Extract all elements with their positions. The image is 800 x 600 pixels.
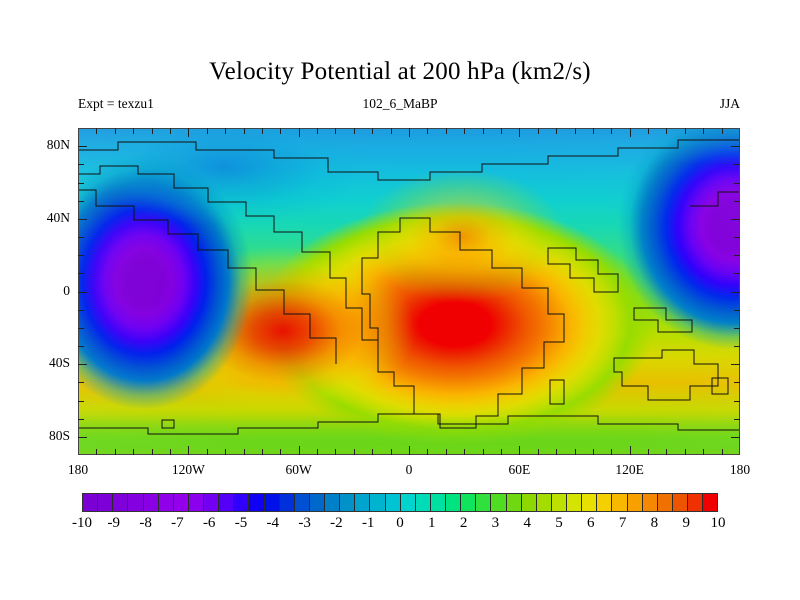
y-tick <box>731 146 740 147</box>
x-tick <box>354 128 355 134</box>
colorbar-cell <box>83 494 98 511</box>
y-tick <box>78 364 87 365</box>
x-tick <box>685 449 686 455</box>
x-tick <box>280 128 281 134</box>
x-tick <box>170 128 171 134</box>
colorbar-cell <box>431 494 446 511</box>
x-tick <box>354 449 355 455</box>
y-tick <box>78 346 84 347</box>
colorbar-cell <box>567 494 582 511</box>
x-tick <box>372 449 373 455</box>
x-tick <box>335 128 336 134</box>
colorbar-cell <box>552 494 567 511</box>
colorbar-cell <box>355 494 370 511</box>
x-tick <box>133 449 134 455</box>
y-tick <box>731 292 740 293</box>
colorbar-cell <box>340 494 355 511</box>
x-tick <box>611 449 612 455</box>
y-tick <box>731 364 740 365</box>
x-tick <box>593 449 594 455</box>
x-tick <box>427 128 428 134</box>
colorbar-cell <box>280 494 295 511</box>
x-tick <box>115 128 116 134</box>
x-axis-label: 0 <box>374 462 444 478</box>
y-tick <box>78 310 84 311</box>
x-tick <box>96 128 97 134</box>
x-tick <box>722 128 723 134</box>
x-tick <box>630 128 631 137</box>
x-axis-label: 180 <box>43 462 113 478</box>
x-tick <box>188 128 189 137</box>
x-tick <box>556 128 557 134</box>
x-tick <box>244 128 245 134</box>
figure-canvas: Velocity Potential at 200 hPa (km2/s) Ex… <box>0 0 800 600</box>
y-tick <box>734 382 740 383</box>
x-tick <box>409 128 410 137</box>
x-tick <box>170 449 171 455</box>
x-tick <box>317 128 318 134</box>
x-axis-label: 60E <box>484 462 554 478</box>
colorbar-cell <box>476 494 491 511</box>
x-tick <box>391 449 392 455</box>
x-tick <box>207 128 208 134</box>
y-axis-label: 40S <box>18 355 70 371</box>
y-tick <box>78 328 84 329</box>
x-tick <box>593 128 594 134</box>
y-tick <box>734 183 740 184</box>
x-tick <box>225 128 226 134</box>
y-tick <box>78 437 87 438</box>
x-tick <box>666 449 667 455</box>
colorbar-cell <box>688 494 703 511</box>
colorbar-cell <box>461 494 476 511</box>
chart-title: Velocity Potential at 200 hPa (km2/s) <box>0 58 800 86</box>
x-tick <box>188 446 189 455</box>
y-tick <box>734 201 740 202</box>
y-tick <box>78 273 84 274</box>
x-axis-label: 180 <box>705 462 775 478</box>
x-tick <box>483 449 484 455</box>
colorbar-cell <box>416 494 431 511</box>
x-tick <box>280 449 281 455</box>
y-tick <box>734 273 740 274</box>
y-tick <box>734 310 740 311</box>
colorbar-tick-label: 10 <box>698 515 738 532</box>
colorbar-cell <box>310 494 325 511</box>
y-tick <box>78 237 84 238</box>
x-tick <box>427 449 428 455</box>
colorbar <box>82 493 718 512</box>
x-tick <box>483 128 484 134</box>
colorbar-cell <box>159 494 174 511</box>
season-label: JJA <box>0 96 740 112</box>
x-tick <box>501 449 502 455</box>
x-tick <box>556 449 557 455</box>
y-tick <box>78 382 84 383</box>
colorbar-cell <box>219 494 234 511</box>
colorbar-cell <box>658 494 673 511</box>
x-tick <box>575 128 576 134</box>
colorbar-cell <box>189 494 204 511</box>
colorbar-cell <box>249 494 264 511</box>
colorbar-cell <box>386 494 401 511</box>
y-tick <box>734 401 740 402</box>
y-tick <box>734 237 740 238</box>
x-tick <box>464 449 465 455</box>
y-tick <box>734 328 740 329</box>
y-tick <box>734 164 740 165</box>
x-tick <box>207 449 208 455</box>
x-tick <box>703 449 704 455</box>
colorbar-cell <box>174 494 189 511</box>
colorbar-cell <box>370 494 385 511</box>
y-axis-label: 40N <box>18 210 70 226</box>
x-tick <box>299 446 300 455</box>
colorbar-cell <box>612 494 627 511</box>
colorbar-cell <box>628 494 643 511</box>
colorbar-cell <box>643 494 658 511</box>
colorbar-cell <box>673 494 688 511</box>
x-tick <box>648 128 649 134</box>
x-tick <box>335 449 336 455</box>
x-tick <box>464 128 465 134</box>
x-tick <box>133 128 134 134</box>
y-tick <box>78 292 87 293</box>
x-tick <box>152 128 153 134</box>
x-tick <box>409 446 410 455</box>
y-tick <box>78 164 84 165</box>
y-axis-label: 80S <box>18 428 70 444</box>
x-tick <box>262 128 263 134</box>
colorbar-cell <box>295 494 310 511</box>
x-tick <box>685 128 686 134</box>
x-tick <box>666 128 667 134</box>
x-tick <box>446 449 447 455</box>
x-tick <box>96 449 97 455</box>
x-tick <box>262 449 263 455</box>
x-tick <box>372 128 373 134</box>
colorbar-cell <box>113 494 128 511</box>
x-tick <box>501 128 502 134</box>
colorbar-cell <box>507 494 522 511</box>
x-tick <box>538 449 539 455</box>
y-axis-label: 0 <box>18 283 70 299</box>
x-tick <box>317 449 318 455</box>
x-tick <box>519 128 520 137</box>
y-tick <box>734 346 740 347</box>
y-axis-label: 80N <box>18 137 70 153</box>
y-tick <box>78 255 84 256</box>
colorbar-cell <box>446 494 461 511</box>
y-tick <box>78 146 87 147</box>
x-tick <box>152 449 153 455</box>
x-tick <box>611 128 612 134</box>
colorbar-cell <box>204 494 219 511</box>
x-tick <box>630 446 631 455</box>
colorbar-cell <box>128 494 143 511</box>
y-tick <box>78 183 84 184</box>
x-axis-label: 60W <box>264 462 334 478</box>
colorbar-cell <box>401 494 416 511</box>
x-tick <box>722 449 723 455</box>
x-axis-label: 120E <box>595 462 665 478</box>
colorbar-cell <box>597 494 612 511</box>
x-tick <box>446 128 447 134</box>
y-tick <box>78 401 84 402</box>
x-tick <box>648 449 649 455</box>
colorbar-labels: -10-9-8-7-6-5-4-3-2-1012345678910 <box>82 515 718 537</box>
x-tick <box>575 449 576 455</box>
colorbar-cell <box>537 494 552 511</box>
y-tick <box>78 419 84 420</box>
x-tick <box>299 128 300 137</box>
colorbar-cell <box>522 494 537 511</box>
y-tick <box>78 201 84 202</box>
x-tick <box>115 449 116 455</box>
colorbar-cell <box>98 494 113 511</box>
y-tick <box>734 255 740 256</box>
x-tick <box>538 128 539 134</box>
x-tick <box>244 449 245 455</box>
y-tick <box>734 419 740 420</box>
colorbar-cell <box>491 494 506 511</box>
x-tick <box>519 446 520 455</box>
x-tick <box>225 449 226 455</box>
y-tick <box>731 437 740 438</box>
x-axis-label: 120W <box>153 462 223 478</box>
colorbar-cell <box>234 494 249 511</box>
x-tick <box>703 128 704 134</box>
x-tick <box>391 128 392 134</box>
y-tick <box>78 219 87 220</box>
colorbar-cell <box>144 494 159 511</box>
coastline-overlay <box>78 128 740 455</box>
colorbar-cell <box>582 494 597 511</box>
y-tick <box>731 219 740 220</box>
colorbar-cell <box>325 494 340 511</box>
colorbar-cell <box>703 494 717 511</box>
colorbar-cell <box>265 494 280 511</box>
